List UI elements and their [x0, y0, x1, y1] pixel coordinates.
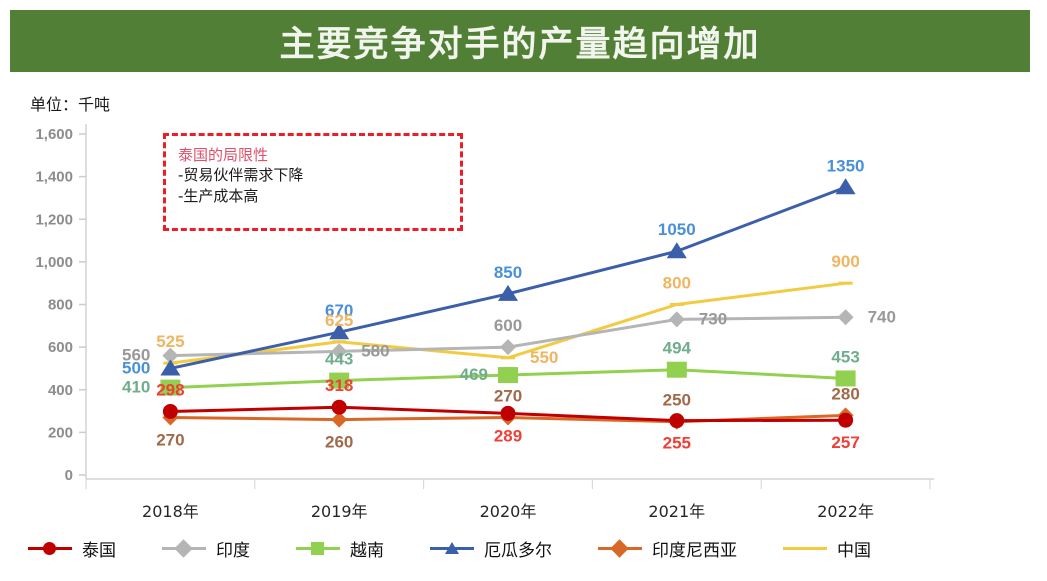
data-point-label: 1050 — [658, 220, 696, 239]
legend-label: 印度尼西亚 — [652, 536, 737, 561]
data-point-marker — [839, 413, 853, 427]
data-point-marker — [838, 309, 854, 325]
annotation-heading: 泰国的局限性 — [178, 145, 448, 165]
legend-square-icon — [311, 542, 324, 555]
legend-swatch-square-icon — [296, 539, 340, 557]
data-point-label: 900 — [831, 252, 859, 271]
x-axis-category-label: 2018年 — [142, 502, 199, 520]
data-point-label: 453 — [831, 347, 859, 366]
data-point-label: 500 — [122, 358, 150, 377]
y-axis-tick-label: 1,400 — [35, 169, 73, 186]
page-title: 主要竞争对手的产量趋向增加 — [279, 16, 760, 67]
line-chart-svg: 02004006008001,0001,2001,4001,6002018年20… — [0, 120, 1047, 520]
data-point-marker — [498, 367, 518, 383]
data-point-label: 800 — [663, 274, 691, 293]
annotation-line-2: -生产成本高 — [178, 186, 448, 207]
legend-swatch-none-icon — [783, 539, 827, 557]
legend-label: 越南 — [350, 536, 384, 561]
legend-item-越南[interactable]: 越南 — [296, 536, 384, 561]
data-point-label: 494 — [663, 339, 692, 358]
data-point-label: 280 — [831, 384, 859, 403]
legend-swatch-diamond-icon — [162, 539, 206, 557]
data-point-marker — [501, 406, 515, 420]
data-point-label: 270 — [494, 386, 522, 405]
legend-item-印度尼西亚[interactable]: 印度尼西亚 — [598, 536, 737, 561]
data-point-marker — [836, 178, 856, 194]
y-axis-tick-label: 1,600 — [35, 126, 73, 143]
annotation-line-1: -贸易伙伴需求下降 — [178, 165, 448, 186]
legend-swatch-circle-icon — [28, 539, 72, 557]
unit-label: 单位：千吨 — [30, 91, 110, 115]
annotation-callout-box: 泰国的局限性 -贸易伙伴需求下降 -生产成本高 — [163, 133, 463, 231]
data-point-label: 298 — [156, 380, 184, 399]
legend-triangle-icon — [445, 542, 459, 554]
y-axis-tick-label: 1,000 — [35, 254, 73, 271]
data-point-label: 580 — [361, 341, 389, 360]
y-axis-tick-label: 200 — [48, 424, 73, 441]
legend-item-厄瓜多尔[interactable]: 厄瓜多尔 — [430, 536, 552, 561]
data-point-label: 410 — [122, 378, 150, 397]
data-point-marker — [670, 414, 684, 428]
data-point-marker — [669, 311, 685, 327]
data-point-marker — [667, 362, 687, 378]
x-axis-category-label: 2020年 — [480, 502, 537, 520]
data-point-label: 255 — [663, 434, 691, 453]
data-point-label: 270 — [156, 430, 184, 449]
data-point-label: 730 — [699, 309, 727, 328]
data-point-marker — [332, 400, 346, 414]
legend-item-印度[interactable]: 印度 — [162, 536, 250, 561]
data-point-label: 260 — [325, 433, 353, 452]
legend-diamond-icon — [610, 539, 628, 557]
y-axis-tick-label: 800 — [48, 297, 73, 314]
legend-line-icon — [783, 547, 827, 550]
legend-swatch-triangle-icon — [430, 539, 474, 557]
legend-circle-icon — [43, 542, 56, 555]
legend-label: 泰国 — [82, 536, 116, 561]
x-axis-category-label: 2021年 — [648, 502, 705, 520]
legend-swatch-diamond-icon — [598, 539, 642, 557]
data-point-label: 289 — [494, 426, 522, 445]
data-point-label: 318 — [325, 376, 353, 395]
legend-label: 中国 — [837, 536, 871, 561]
data-point-marker — [163, 404, 177, 418]
data-point-marker — [667, 242, 687, 258]
data-point-label: 625 — [325, 311, 353, 330]
legend-label: 印度 — [216, 536, 250, 561]
y-axis-tick-label: 1,200 — [35, 211, 73, 228]
y-axis-tick-label: 0 — [65, 467, 73, 484]
chart-plot-area: 02004006008001,0001,2001,4001,6002018年20… — [0, 120, 1047, 520]
legend-item-中国[interactable]: 中国 — [783, 536, 871, 561]
data-point-label: 443 — [325, 350, 353, 369]
legend-diamond-icon — [174, 539, 192, 557]
data-point-marker — [500, 339, 516, 355]
title-banner: 主要竞争对手的产量趋向增加 — [10, 10, 1030, 72]
legend-label: 厄瓜多尔 — [484, 536, 552, 561]
data-point-label: 850 — [494, 263, 522, 282]
data-point-label: 1350 — [827, 156, 865, 175]
data-point-label: 600 — [494, 316, 522, 335]
data-point-label: 740 — [868, 307, 896, 326]
data-point-label: 250 — [663, 391, 691, 410]
y-axis-tick-label: 400 — [48, 382, 73, 399]
y-axis-tick-label: 600 — [48, 339, 73, 356]
data-point-label: 469 — [460, 365, 488, 384]
legend-item-泰国[interactable]: 泰国 — [28, 536, 116, 561]
data-point-label: 525 — [156, 332, 184, 351]
data-point-label: 257 — [831, 433, 859, 452]
x-axis-category-label: 2022年 — [817, 502, 874, 520]
x-axis-category-label: 2019年 — [311, 502, 368, 520]
chart-legend: 泰国印度越南厄瓜多尔印度尼西亚中国 — [0, 528, 1047, 568]
data-point-label: 550 — [530, 348, 558, 367]
